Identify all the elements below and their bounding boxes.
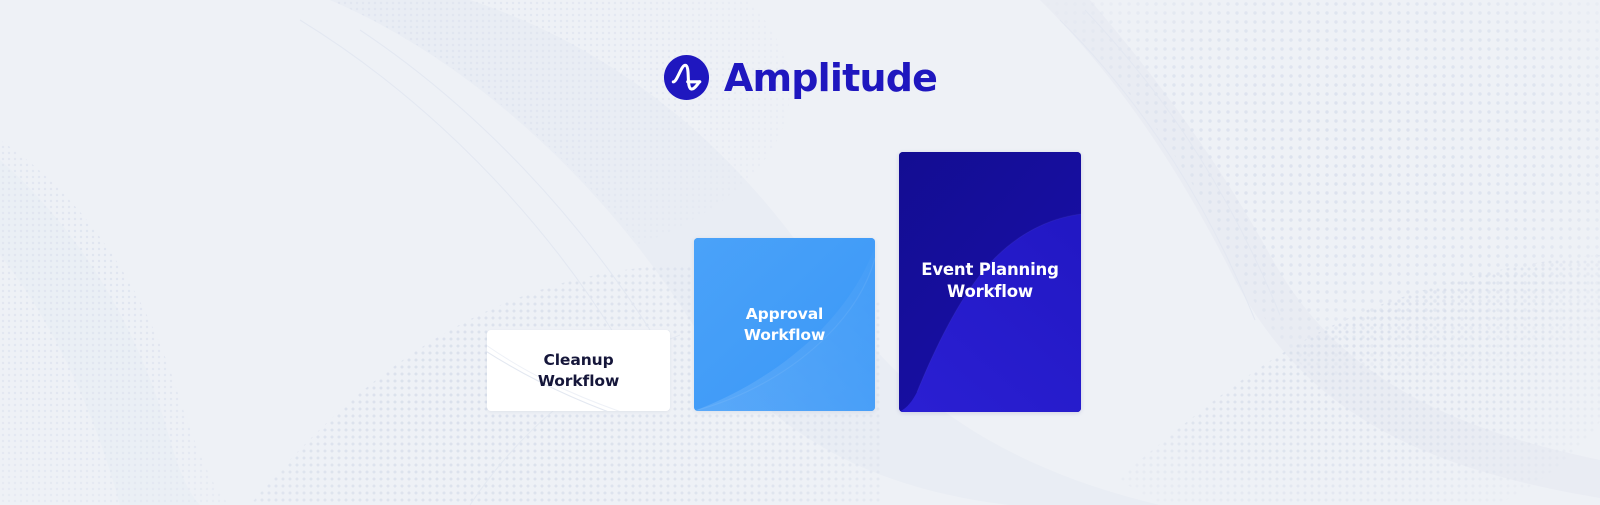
workflow-card-cleanup[interactable]: Cleanup Workflow bbox=[487, 330, 670, 411]
workflow-card-event-planning[interactable]: Event Planning Workflow bbox=[899, 152, 1081, 412]
amplitude-wordmark: Amplitude bbox=[724, 59, 937, 97]
workflow-card-approval[interactable]: Approval Workflow bbox=[694, 238, 875, 411]
workflow-card-approval-label: Approval Workflow bbox=[744, 304, 825, 345]
workflow-card-cleanup-label: Cleanup Workflow bbox=[538, 350, 619, 391]
amplitude-logo-icon bbox=[663, 54, 710, 101]
workflow-card-event-planning-label: Event Planning Workflow bbox=[921, 259, 1058, 305]
brand-lockup: Amplitude bbox=[0, 54, 1600, 101]
